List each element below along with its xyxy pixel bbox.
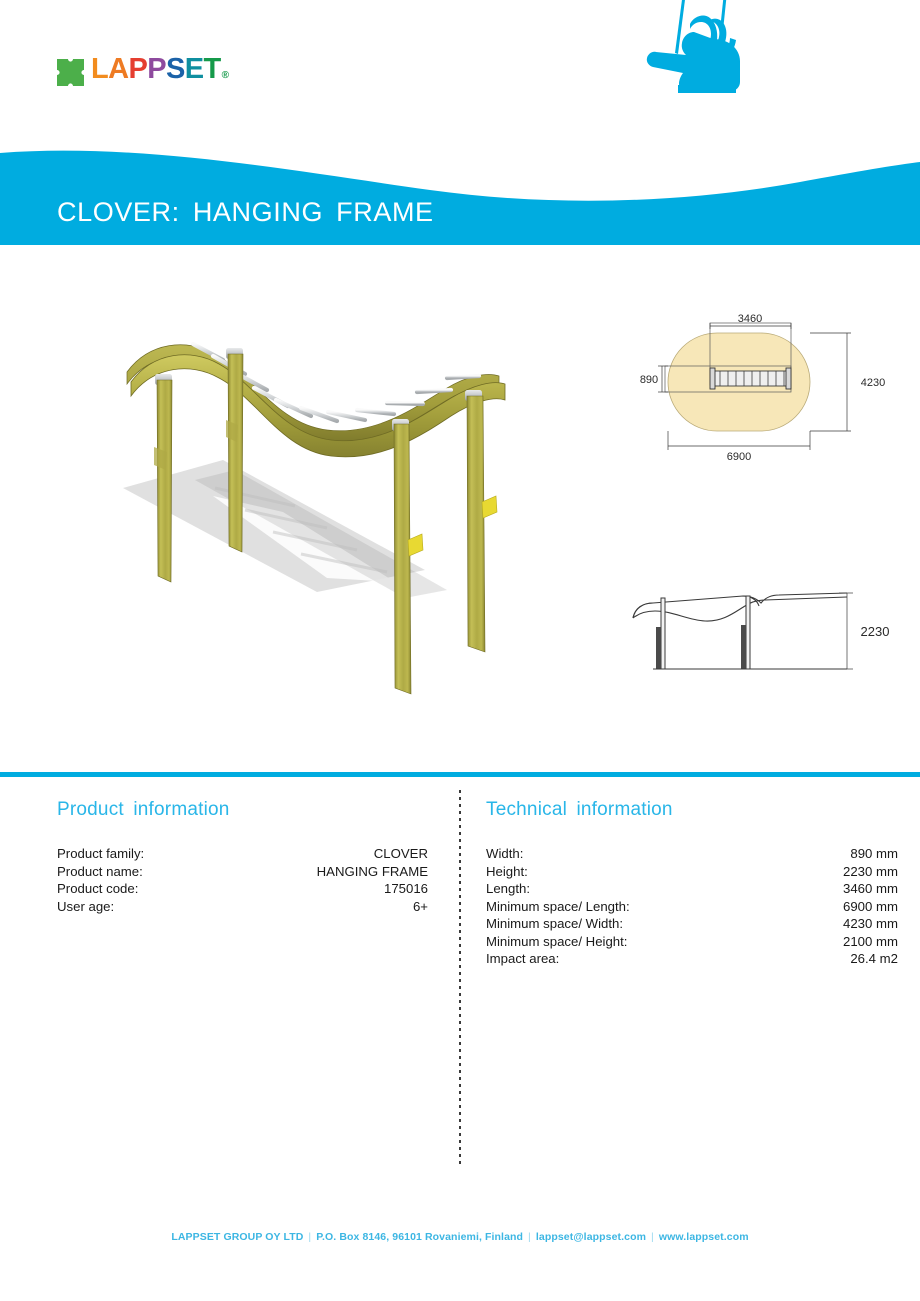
technical-spec-row: Minimum space/ Length:6900 mm — [486, 898, 898, 916]
technical-spec-value: 2100 mm — [843, 933, 898, 951]
wordmark-letter-6: T — [203, 56, 220, 83]
product-spec-value: HANGING FRAME — [317, 863, 428, 881]
product-spec-value: 6+ — [413, 898, 428, 916]
technical-spec-row: Impact area:26.4 m2 — [486, 950, 898, 968]
product-spec-row: Product code:175016 — [57, 880, 428, 898]
technical-spec-label: Length: — [486, 880, 530, 898]
plan-dim-6900: 6900 — [727, 451, 751, 460]
clover-icon — [57, 59, 84, 86]
page-footer: LAPPSET GROUP OY LTD|P.O. Box 8146, 9610… — [0, 1231, 920, 1243]
technical-spec-value: 890 mm — [850, 845, 898, 863]
technical-spec-row: Minimum space/ Width:4230 mm — [486, 915, 898, 933]
child-on-swing-icon — [628, 0, 788, 132]
section-divider-vertical-dotted — [459, 790, 461, 1165]
footer-website[interactable]: www.lappset.com — [659, 1231, 749, 1243]
technical-spec-label: Minimum space/ Length: — [486, 898, 630, 916]
technical-information-list: Width:890 mmHeight:2230 mmLength:3460 mm… — [486, 845, 898, 968]
wordmark-letter-4: S — [166, 56, 185, 83]
footer-address: P.O. Box 8146, 96101 Rovaniemi, Finland — [316, 1231, 523, 1243]
technical-spec-value: 4230 mm — [843, 915, 898, 933]
product-information-heading: Product information — [57, 799, 230, 821]
technical-spec-value: 6900 mm — [843, 898, 898, 916]
technical-spec-label: Width: — [486, 845, 523, 863]
wordmark-letter-5: E — [185, 56, 204, 83]
technical-spec-value: 2230 mm — [843, 863, 898, 881]
product-spec-label: User age: — [57, 898, 114, 916]
footer-separator-3: | — [651, 1231, 654, 1243]
page-title: CLOVER: HANGING FRAME — [57, 197, 434, 228]
side-elevation-drawing: 2230 — [625, 570, 900, 675]
technical-spec-label: Impact area: — [486, 950, 559, 968]
product-spec-value: CLOVER — [374, 845, 428, 863]
clover-hanging-frame-3d-render — [95, 320, 545, 720]
wordmark-letter-2: P — [128, 56, 147, 83]
technical-spec-label: Minimum space/ Width: — [486, 915, 623, 933]
technical-spec-value: 3460 mm — [843, 880, 898, 898]
product-spec-row: Product name:HANGING FRAME — [57, 863, 428, 881]
technical-spec-value: 26.4 m2 — [850, 950, 898, 968]
footer-separator-1: | — [308, 1231, 311, 1243]
product-spec-value: 175016 — [384, 880, 428, 898]
technical-spec-row: Height:2230 mm — [486, 863, 898, 881]
product-information-list: Product family:CLOVERProduct name:HANGIN… — [57, 845, 428, 915]
product-spec-label: Product code: — [57, 880, 138, 898]
elev-dim-2230: 2230 — [861, 624, 890, 639]
footer-email[interactable]: lappset@lappset.com — [536, 1231, 646, 1243]
technical-spec-label: Minimum space/ Height: — [486, 933, 627, 951]
footer-separator-2: | — [528, 1231, 531, 1243]
technical-spec-row: Width:890 mm — [486, 845, 898, 863]
product-spec-label: Product name: — [57, 863, 143, 881]
footer-company: LAPPSET GROUP OY LTD — [171, 1231, 303, 1243]
section-divider-horizontal — [0, 772, 920, 777]
product-spec-row: Product family:CLOVER — [57, 845, 428, 863]
technical-spec-label: Height: — [486, 863, 528, 881]
page-header: LAPPSET® CLOVER: HANGING FRAME — [0, 0, 920, 245]
wordmark-letter-3: P — [147, 56, 166, 83]
wordmark-letter-1: A — [108, 56, 128, 83]
plan-dim-4230: 4230 — [861, 377, 885, 389]
wordmark-letter-0: L — [91, 56, 108, 83]
product-spec-label: Product family: — [57, 845, 144, 863]
technical-spec-row: Length:3460 mm — [486, 880, 898, 898]
product-spec-row: User age:6+ — [57, 898, 428, 916]
technical-information-heading: Technical information — [486, 799, 673, 821]
plan-view-drawing: 3460 890 4230 6900 — [625, 305, 900, 460]
technical-spec-row: Minimum space/ Height:2100 mm — [486, 933, 898, 951]
registered-mark: ® — [222, 62, 229, 89]
plan-dim-890: 890 — [640, 374, 658, 386]
lappset-wordmark: LAPPSET® — [91, 56, 228, 89]
lappset-logo: LAPPSET® — [57, 56, 228, 88]
plan-dim-3460: 3460 — [738, 313, 762, 325]
